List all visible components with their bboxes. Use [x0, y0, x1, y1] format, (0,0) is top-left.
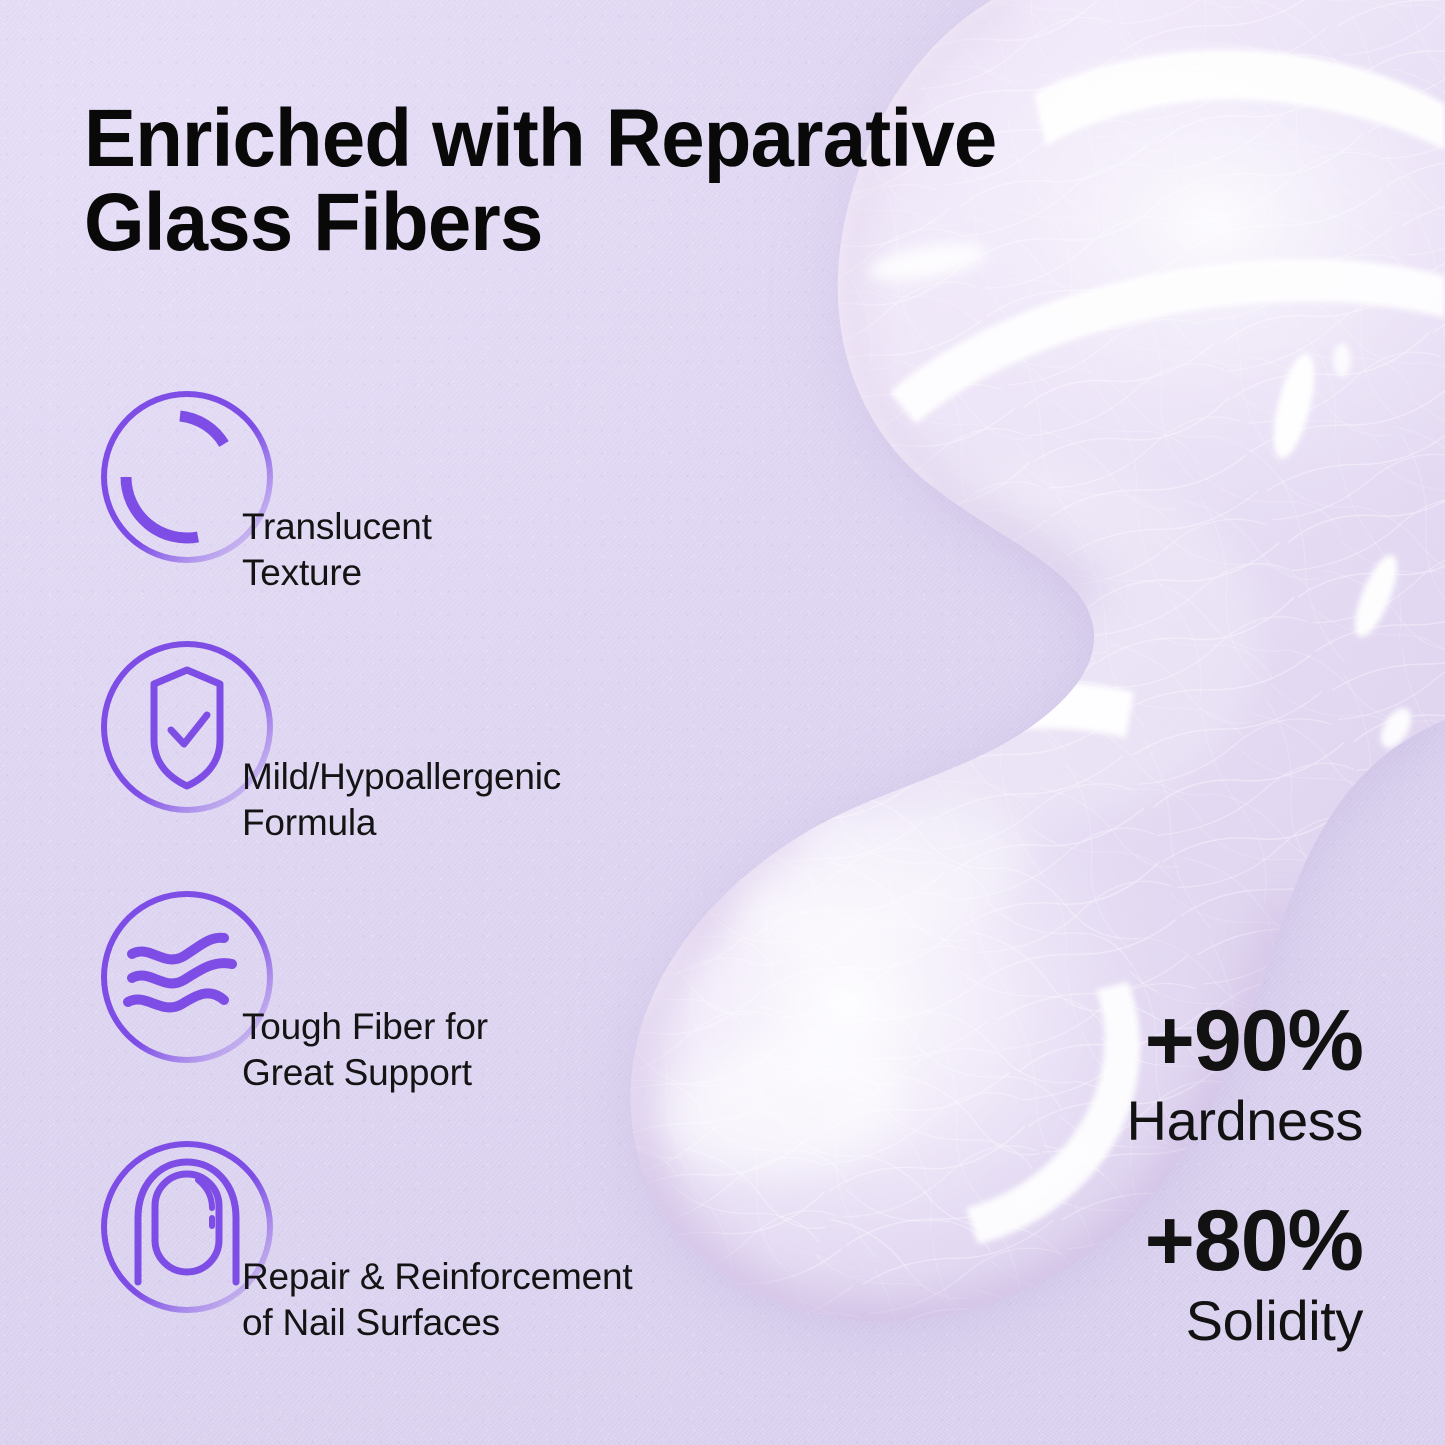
feature-list: Translucent Texture: [92, 382, 792, 1382]
stat-solidity: +80% Solidity: [1127, 1198, 1363, 1354]
feature-item-hypoallergenic: Mild/Hypoallergenic Formula: [92, 632, 792, 882]
stat-callouts: +90% Hardness +80% Solidity: [1127, 998, 1363, 1354]
feature-item-translucent-texture: Translucent Texture: [92, 382, 792, 632]
page-title: Enriched with Reparative Glass Fibers: [84, 97, 1158, 264]
stat-label: Solidity: [1127, 1288, 1363, 1354]
feature-label: Translucent Texture: [242, 504, 432, 595]
stat-value: +90%: [1127, 998, 1363, 1084]
feature-label: Repair & Reinforcement of Nail Surfaces: [242, 1254, 632, 1345]
product-feature-graphic: Enriched with Reparative Glass Fibers: [0, 0, 1445, 1445]
stat-value: +80%: [1127, 1198, 1363, 1284]
feature-item-tough-fiber: Tough Fiber for Great Support: [92, 882, 792, 1132]
feature-label: Mild/Hypoallergenic Formula: [242, 754, 561, 845]
feature-item-nail-repair: Repair & Reinforcement of Nail Surfaces: [92, 1132, 792, 1382]
feature-label: Tough Fiber for Great Support: [242, 1004, 488, 1095]
stat-hardness: +90% Hardness: [1127, 998, 1363, 1154]
stat-label: Hardness: [1127, 1088, 1363, 1154]
